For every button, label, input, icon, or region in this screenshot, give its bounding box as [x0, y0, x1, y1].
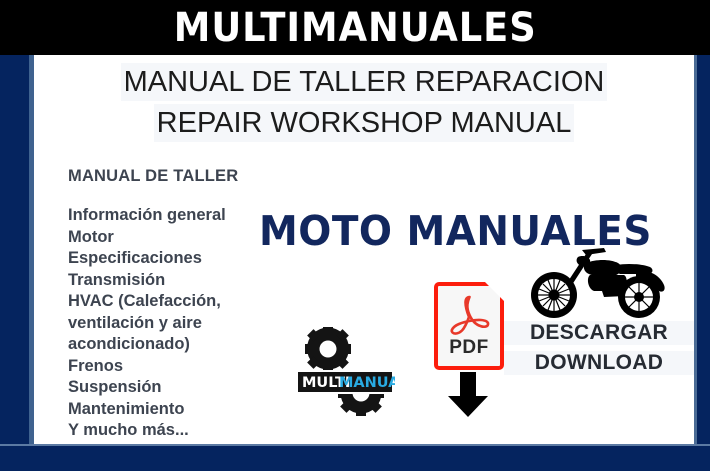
poster-root: MULTIMANUALES MANUAL DE TALLER REPARACIO… — [0, 0, 710, 471]
download-label-es: DESCARGAR — [504, 321, 694, 345]
title-line-es: MANUAL DE TALLER REPARACION — [121, 63, 608, 101]
adobe-swoosh-icon — [447, 295, 491, 337]
download-label-en: DOWNLOAD — [504, 351, 694, 375]
frame-bottom-bar — [0, 446, 710, 471]
title-block: MANUAL DE TALLER REPARACION REPAIR WORKS… — [34, 63, 694, 142]
gears-logo-icon: MULTI MANUALES — [295, 327, 395, 422]
frame-right-bar — [697, 55, 710, 446]
list-item: HVAC (Calefacción, ventilación y aire — [68, 291, 298, 334]
list-item: Mantenimiento — [68, 399, 298, 421]
list-item: Frenos — [68, 356, 298, 378]
download-arrow-icon[interactable] — [446, 372, 490, 417]
multimanuales-logo: MULTI MANUALES — [295, 327, 395, 422]
logo-text-manuales: MANUALES — [339, 375, 395, 391]
list-item: Y mucho más... — [68, 420, 298, 442]
frame-left-bar — [0, 55, 29, 446]
manual-section-heading: MANUAL DE TALLER — [68, 167, 238, 186]
content-card: MANUAL DE TALLER REPARACION REPAIR WORKS… — [34, 55, 694, 444]
list-item: Transmisión — [68, 270, 298, 292]
title-line-en: REPAIR WORKSHOP MANUAL — [154, 104, 575, 142]
pdf-file-icon[interactable]: PDF — [434, 282, 504, 370]
motorcycle-icon — [524, 247, 669, 319]
list-item: acondicionado) — [68, 334, 298, 356]
header-bar: MULTIMANUALES — [0, 0, 710, 55]
list-item: Suspensión — [68, 377, 298, 399]
pdf-label: PDF — [438, 337, 500, 359]
brand-title: MULTIMANUALES — [174, 5, 537, 51]
